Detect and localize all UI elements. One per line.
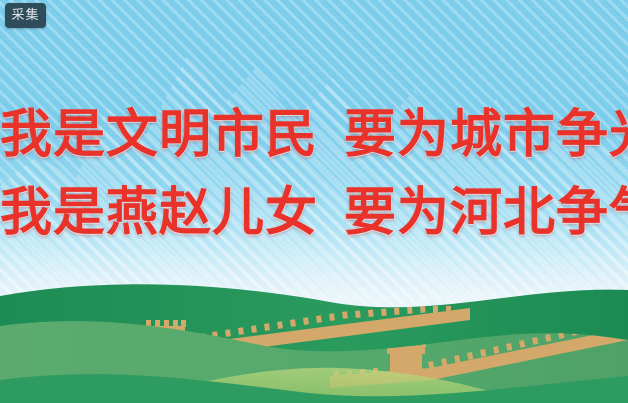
slogan-line-2-right: 要为河北争气 xyxy=(344,174,628,252)
capture-button[interactable]: 采集 xyxy=(5,3,46,28)
slogan-line-2-left: 我是燕赵儿女 xyxy=(0,174,318,252)
slogan-line-1-left: 我是文明市民 xyxy=(0,96,318,174)
slogan-line-2: 我是燕赵儿女要为河北争气 xyxy=(0,174,628,252)
slogan-line-1: 我是文明市民要为城市争光 xyxy=(0,96,628,174)
hills-landscape xyxy=(0,268,628,403)
slogan-line-1-right: 要为城市争光 xyxy=(344,96,628,174)
slogan-block: 我是文明市民要为城市争光 我是燕赵儿女要为河北争气 xyxy=(0,96,628,252)
banner-image: 我是文明市民要为城市争光 我是燕赵儿女要为河北争气 采集 xyxy=(0,0,628,403)
